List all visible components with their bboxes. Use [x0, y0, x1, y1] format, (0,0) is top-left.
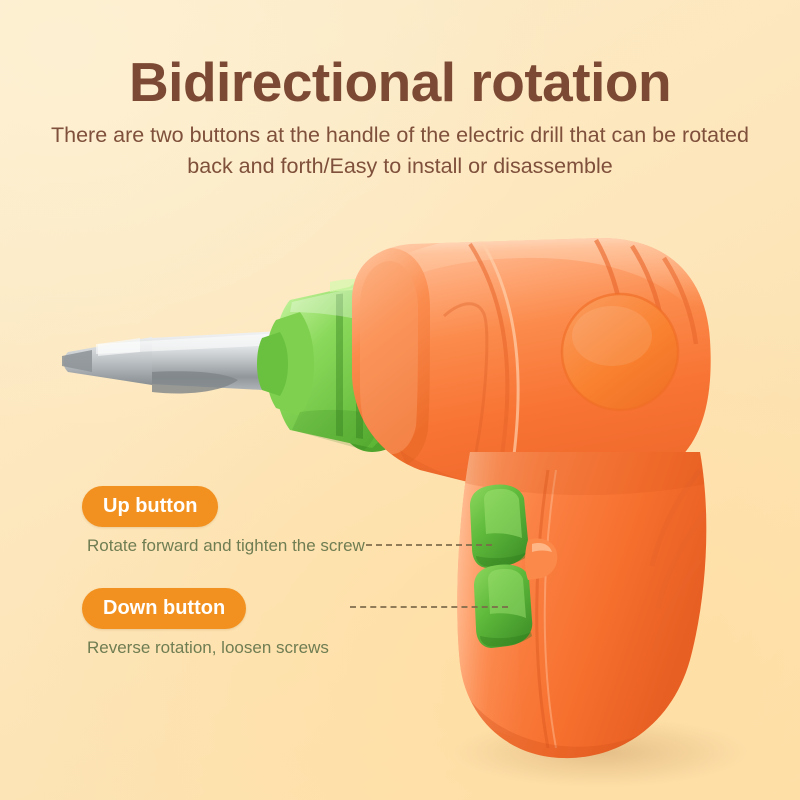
grip-handle: [453, 452, 706, 770]
drill-bit: [62, 330, 300, 394]
drill-drop-shadow: [450, 716, 750, 788]
direction-tab[interactable]: [525, 538, 557, 580]
page-title: Bidirectional rotation: [0, 50, 800, 114]
poster-canvas: Bidirectional rotation There are two but…: [0, 0, 800, 800]
callout-down-button: Down button Reverse rotation, loosen scr…: [82, 588, 329, 658]
callout-up-description: Rotate forward and tighten the screw: [82, 536, 365, 556]
leader-line-down: [350, 606, 508, 608]
motor-housing: [340, 230, 712, 510]
chuck-collar: [257, 278, 424, 452]
leader-line-up: [366, 544, 492, 546]
callout-up-button: Up button Rotate forward and tighten the…: [82, 486, 365, 556]
page-subtitle: There are two buttons at the handle of t…: [50, 120, 750, 182]
motor-cap-disc: [562, 294, 678, 410]
callout-up-label[interactable]: Up button: [82, 486, 218, 527]
callout-down-label[interactable]: Down button: [82, 588, 246, 629]
callout-down-description: Reverse rotation, loosen screws: [82, 638, 329, 658]
upper-trigger-button[interactable]: [470, 485, 528, 569]
